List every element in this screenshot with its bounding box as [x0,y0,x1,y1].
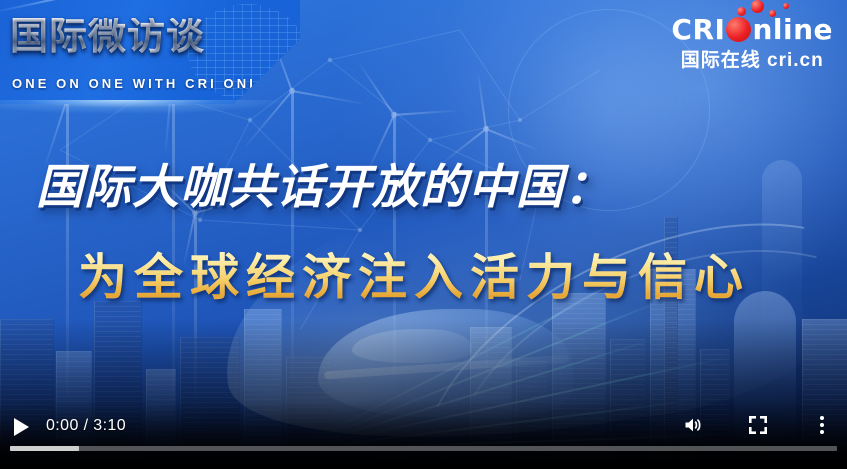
logo-nline-text: nline [752,13,833,46]
video-player[interactable]: 国际大咖共话开放的中国： 为全球经济注入活力与信心 国际微访谈 ONE ON O… [0,0,847,469]
poster-title-line-2: 为全球经济注入活力与信心 [78,238,750,309]
cri-online-logo: CRInline 国际在线 cri.cn [671,16,833,70]
logo-cri-text: CRI [671,13,725,46]
logo-subtext: 国际在线 cri.cn [671,51,833,70]
logo-chinese-name: 国际在线 [681,50,761,71]
banner-subtitle: ONE ON ONE WITH CRI ONLINE [12,76,291,91]
poster-title-line-1: 国际大咖共话开放的中国： [36,148,612,217]
logo-o-bubble-icon [726,17,751,42]
player-controls[interactable]: 0:00 / 3:10 [0,400,847,469]
play-icon [14,418,29,436]
controls-row: 0:00 / 3:10 [0,408,847,444]
right-controls-group [679,410,837,440]
time-display: 0:00 / 3:10 [46,417,126,435]
logo-domain: cri.cn [767,50,824,71]
progress-buffered [10,446,79,451]
progress-bar[interactable] [10,446,837,451]
volume-button[interactable] [679,410,709,440]
logo-wordmark: CRInline [671,16,833,44]
fullscreen-button[interactable] [743,410,773,440]
more-options-icon [820,416,824,434]
fullscreen-icon [748,415,768,435]
play-button[interactable] [8,414,34,440]
volume-on-icon [682,413,706,437]
banner-title: 国际微访谈 [10,18,205,56]
more-options-button[interactable] [807,410,837,440]
video-poster-image: 国际大咖共话开放的中国： 为全球经济注入活力与信心 国际微访谈 ONE ON O… [0,0,847,469]
